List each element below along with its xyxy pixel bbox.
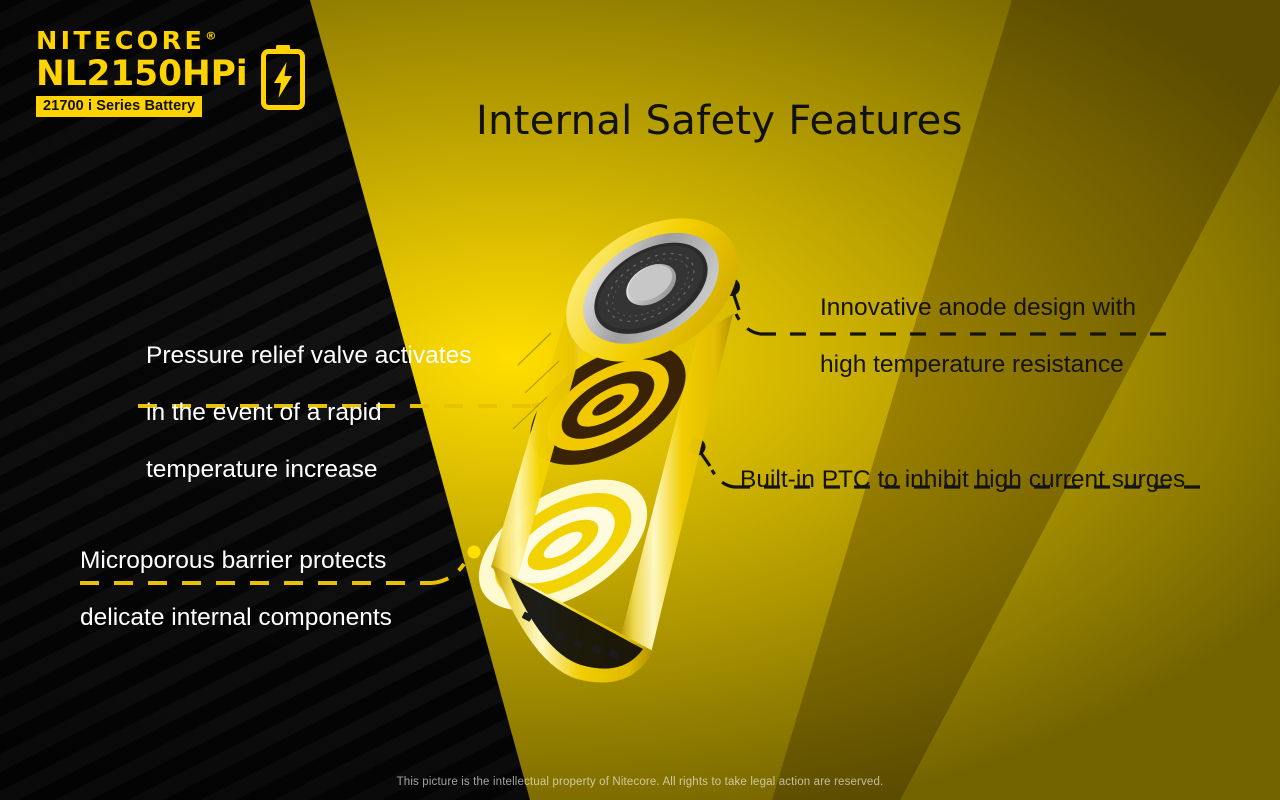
product-subtitle-badge: 21700 i Series Battery — [36, 96, 202, 117]
callout-line: delicate internal components — [80, 604, 392, 633]
callout-line: in the event of a rapid — [146, 399, 471, 428]
brand-logo: NITECORE® NL2150HPi 21700 i Series Batte… — [36, 28, 296, 117]
callout-microporous-barrier: Microporous barrier protects delicate in… — [80, 518, 392, 661]
registered-mark-icon: ® — [205, 30, 216, 43]
callout-line: temperature increase — [146, 456, 471, 485]
callout-line: Innovative anode design with — [820, 294, 1136, 323]
infographic-canvas: NITECORE® NL2150HPi 21700 i Series Batte… — [0, 0, 1280, 800]
battery-bolt-icon — [260, 44, 306, 115]
callout-line: high temperature resistance — [820, 351, 1136, 380]
callout-line: Built-in PTC to inhibit high current sur… — [740, 466, 1185, 495]
copyright-disclaimer: This picture is the intellectual propert… — [0, 776, 1280, 788]
callout-built-in-ptc: Built-in PTC to inhibit high current sur… — [740, 437, 1185, 523]
callout-line: Microporous barrier protects — [80, 547, 392, 576]
callout-pressure-relief-valve: Pressure relief valve activates in the e… — [146, 313, 471, 513]
brand-name: NITECORE® — [36, 28, 256, 53]
callout-line: Pressure relief valve activates — [146, 342, 471, 371]
page-title: Internal Safety Features — [476, 98, 963, 144]
callout-innovative-anode: Innovative anode design with high temper… — [820, 265, 1136, 408]
product-model: NL2150HPi — [36, 56, 248, 92]
